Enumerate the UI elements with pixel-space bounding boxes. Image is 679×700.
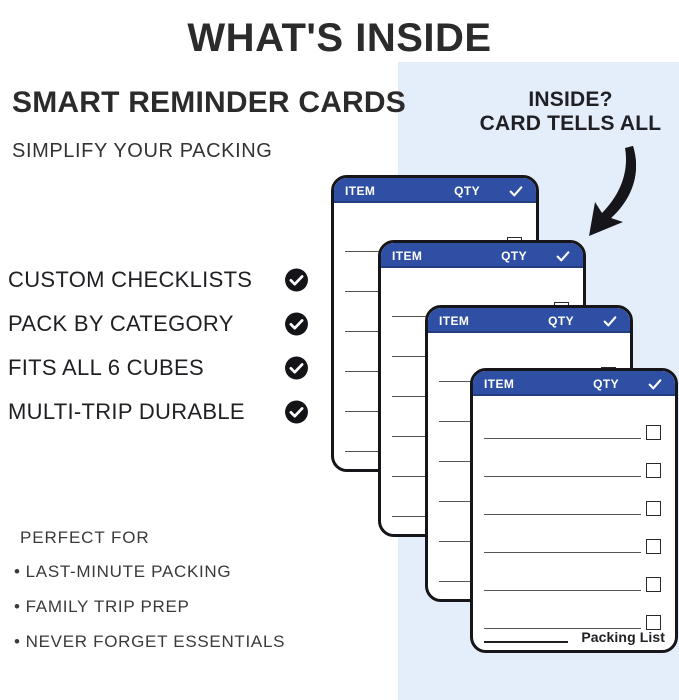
card-header: ITEM QTY bbox=[428, 308, 630, 333]
write-line bbox=[484, 552, 641, 553]
infographic-page: WHAT'S INSIDE SMART REMINDER CARDS SIMPL… bbox=[0, 0, 679, 700]
row-checkbox[interactable] bbox=[646, 463, 661, 478]
card-footer-label: Packing List bbox=[581, 629, 665, 645]
row-checkbox[interactable] bbox=[646, 615, 661, 630]
write-line bbox=[484, 590, 641, 591]
column-header-qty: QTY bbox=[454, 184, 480, 198]
column-header-qty: QTY bbox=[548, 314, 574, 328]
checkmark-icon bbox=[508, 183, 524, 199]
write-line bbox=[484, 476, 641, 477]
row-checkbox[interactable] bbox=[646, 425, 661, 440]
row-checkbox[interactable] bbox=[646, 577, 661, 592]
row-checkbox[interactable] bbox=[646, 539, 661, 554]
signature-line bbox=[484, 641, 568, 643]
checkmark-icon bbox=[602, 313, 618, 329]
checkmark-icon bbox=[555, 248, 571, 264]
card-stack: ITEM QTY ITEM QTY bbox=[0, 0, 679, 700]
card-body: Packing List bbox=[473, 396, 675, 650]
checkmark-icon bbox=[647, 376, 663, 392]
card-header: ITEM QTY bbox=[334, 178, 536, 203]
write-line bbox=[484, 514, 641, 515]
column-header-item: ITEM bbox=[392, 249, 422, 263]
column-header-item: ITEM bbox=[484, 377, 514, 391]
write-line bbox=[484, 438, 641, 439]
column-header-qty: QTY bbox=[593, 377, 619, 391]
column-header-qty: QTY bbox=[501, 249, 527, 263]
column-header-item: ITEM bbox=[439, 314, 469, 328]
row-checkbox[interactable] bbox=[646, 501, 661, 516]
card-header: ITEM QTY bbox=[473, 371, 675, 396]
card-header: ITEM QTY bbox=[381, 243, 583, 268]
reminder-card-front: ITEM QTY bbox=[470, 368, 678, 653]
column-header-item: ITEM bbox=[345, 184, 375, 198]
